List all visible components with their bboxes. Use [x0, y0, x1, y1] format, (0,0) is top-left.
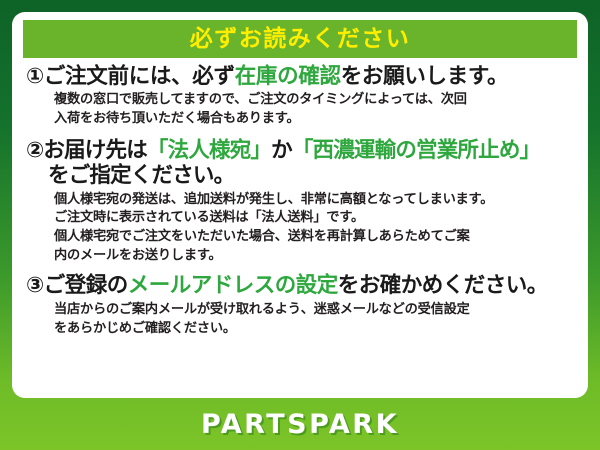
notice-item-2: ②お届け先は「法人様宛」か「西濃運輸の営業所止め」 をご指定ください。 個人様宅… [26, 138, 580, 266]
notice-sub-3-line-2: をあらかじめご確認ください。 [26, 320, 580, 339]
headline-highlight-3: メールアドレスの設定 [128, 273, 338, 298]
notice-headline-2-cont: をご指定ください。 [26, 163, 580, 188]
headline-post-3: をお確かめください。 [338, 273, 548, 298]
title-banner: 必ずお読みください [23, 20, 577, 58]
item-marker-2: ② [26, 138, 43, 163]
item-marker-3: ③ [26, 273, 44, 298]
banner-title-text: 必ずお読みください [190, 28, 411, 51]
headline-pre-1: ご注文前には、必ず [44, 64, 235, 89]
notice-list: ①ご注文前には、必ず在庫の確認をお願いします。 複数の窓口で販売してますので、ご… [12, 64, 588, 344]
notice-sub-1-line-2: 入荷をお待ち頂いただく場合もあります。 [26, 110, 580, 129]
notice-sub-2-line-1: 個人様宅宛の発送は、追加送料が発生し、非常に高額となってしまいます。 [26, 191, 580, 210]
white-content-panel: 必ずお読みください ①ご注文前には、必ず在庫の確認をお願いします。 複数の窓口で… [12, 12, 588, 398]
headline-post-1: をお願いします。 [341, 64, 508, 89]
item-marker-1: ① [26, 64, 44, 89]
notice-item-1: ①ご注文前には、必ず在庫の確認をお願いします。 複数の窓口で販売してますので、ご… [26, 64, 580, 129]
notice-item-3: ③ご登録のメールアドレスの設定をお確かめください。 当店からのご案内メールが受け… [26, 273, 580, 338]
headline-pre-3: ご登録の [44, 273, 128, 298]
notice-sub-2-line-2: ご注文時に表示されている送料は「法人送料」です。 [26, 209, 580, 228]
headline-highlight-2b: 「西濃運輸の営業所止め」 [292, 138, 540, 163]
headline-highlight-1: 在庫の確認 [235, 64, 341, 89]
headline-pre-2: お届け先は [43, 138, 147, 163]
footer-brand-bar: PARTSPARK [0, 398, 600, 450]
notice-card: 必ずお読みください ①ご注文前には、必ず在庫の確認をお願いします。 複数の窓口で… [0, 0, 600, 450]
notice-sub-3-line-1: 当店からのご案内メールが受け取れるよう、迷惑メールなどの受信設定 [26, 301, 580, 320]
notice-sub-2-line-4: 内のメールをお送りします。 [26, 247, 580, 266]
headline-highlight-2a: 「法人様宛」 [147, 138, 271, 163]
brand-name-text: PARTSPARK [201, 411, 399, 438]
headline-mid-2: か [271, 138, 292, 163]
notice-headline-3: ③ご登録のメールアドレスの設定をお確かめください。 [26, 273, 580, 298]
notice-headline-1: ①ご注文前には、必ず在庫の確認をお願いします。 [26, 64, 580, 89]
notice-sub-2-line-3: 個人様宅宛でご注文をいただいた場合、送料を再計算しあらためてご案 [26, 228, 580, 247]
notice-sub-1-line-1: 複数の窓口で販売してますので、ご注文のタイミングによっては、次回 [26, 91, 580, 110]
notice-headline-2: ②お届け先は「法人様宛」か「西濃運輸の営業所止め」 [26, 138, 580, 163]
